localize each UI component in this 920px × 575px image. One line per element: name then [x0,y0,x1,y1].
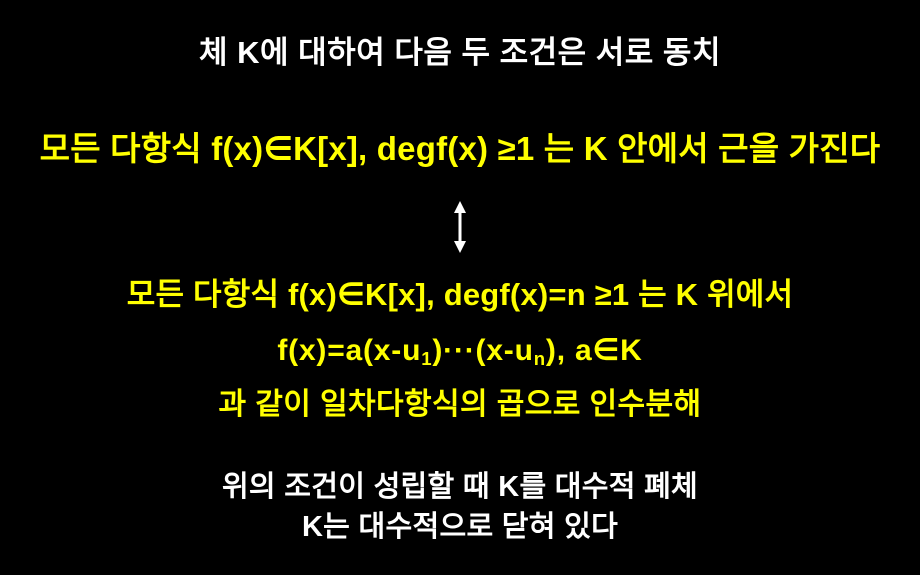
condition-one-statement: 모든 다항식 f(x)∈K[x], degf(x) ≥1 는 K 안에서 근을 … [0,128,920,170]
slide-title: 체 K에 대하여 다음 두 조건은 서로 동치 [0,34,920,72]
formula-subscript-n: n [534,348,546,369]
condition-two-line-three: 과 같이 일차다항식의 곱으로 인수분해 [0,385,920,425]
definition-line-one: 위의 조건이 성립할 때 K를 대수적 폐체 [0,468,920,506]
formula-middle: )···(x-u [432,334,533,367]
double-headed-vertical-arrow-icon [448,200,472,254]
condition-two-line-one: 모든 다항식 f(x)∈K[x], degf(x)=n ≥1 는 K 위에서 [0,275,920,315]
equivalence-arrow [0,198,920,256]
formula-prefix: f(x)=a(x-u [277,334,421,367]
definition-line-two: K는 대수적으로 닫혀 있다 [0,508,920,546]
slide-canvas: 체 K에 대하여 다음 두 조건은 서로 동치 모든 다항식 f(x)∈K[x]… [0,0,920,575]
formula-subscript-one: 1 [421,348,432,369]
condition-two-factorization-formula: f(x)=a(x-u1)···(x-un), a∈K [0,331,920,374]
formula-suffix: ), a∈K [546,334,643,367]
